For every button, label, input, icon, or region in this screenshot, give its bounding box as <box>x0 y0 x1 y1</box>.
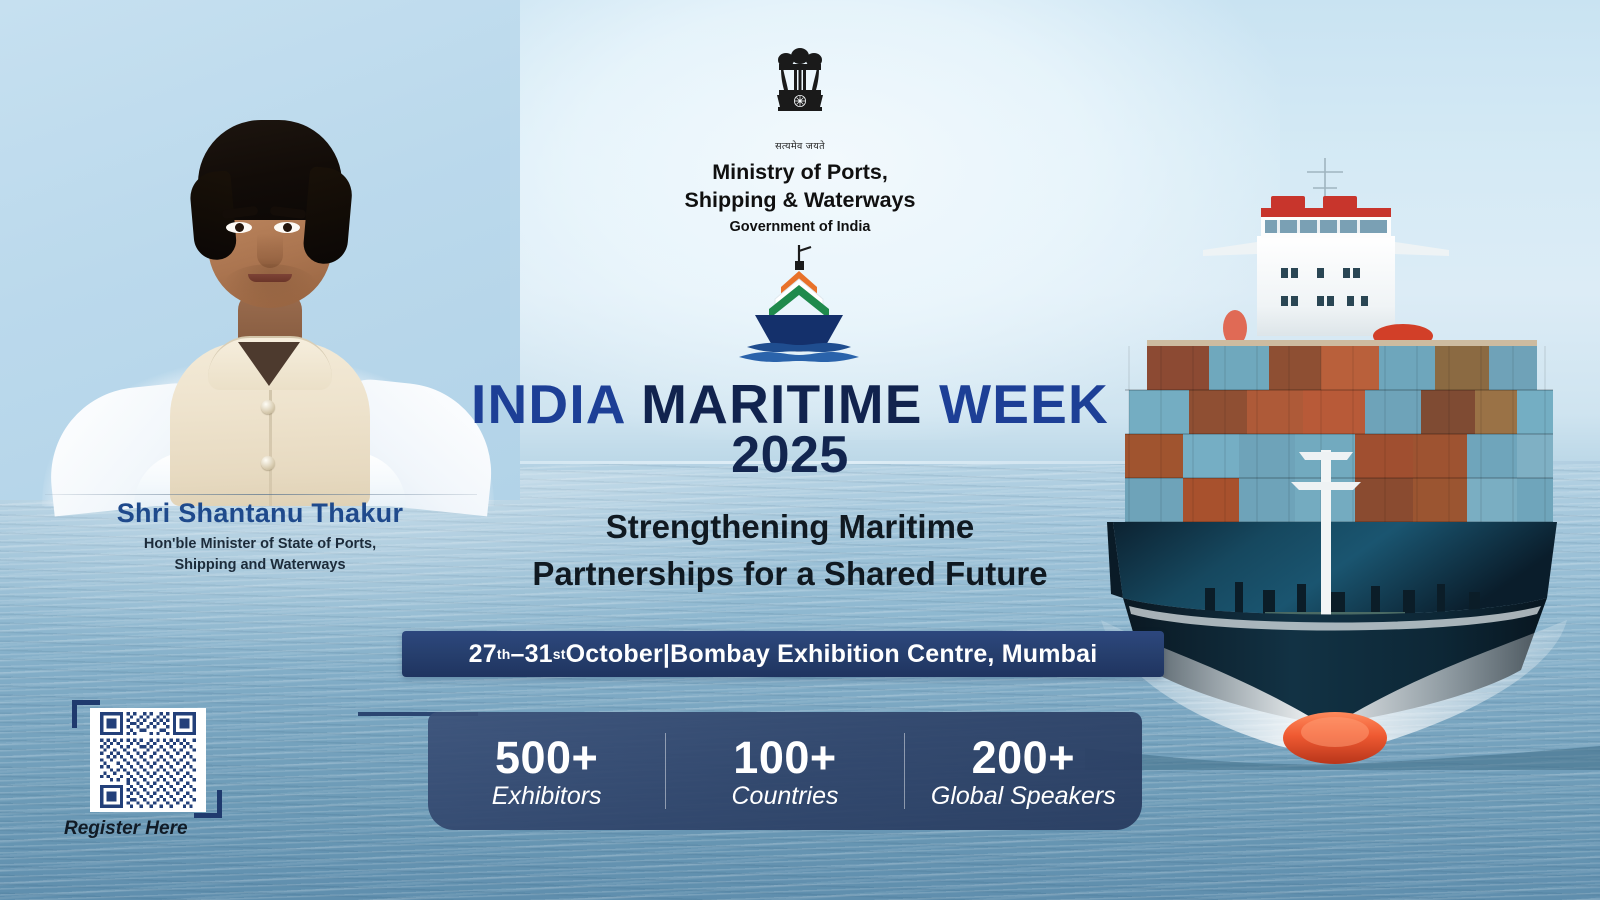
government-label: Government of India <box>645 219 955 235</box>
india-maritime-week-logo <box>729 243 869 365</box>
ashoka-lion-capital-emblem <box>767 42 833 138</box>
stat-number: 100+ <box>666 732 903 784</box>
promotional-banner: Shri Shantanu Thakur Hon'ble Minister of… <box>0 0 1600 900</box>
date-venue-bar: 27th – 31st October | Bombay Exhibition … <box>402 631 1164 677</box>
date-start-suffix: th <box>497 646 511 662</box>
date-end: 31 <box>525 640 553 669</box>
stat-label: Countries <box>666 782 903 811</box>
ministry-name: Ministry of Ports, Shipping & Waterways <box>645 159 955 215</box>
ministry-block: सत्यमेव जयते Ministry of Ports, Shipping… <box>645 42 955 235</box>
event-year: 2025 <box>360 425 1220 485</box>
stat-label: Exhibitors <box>428 782 665 811</box>
eye-left <box>226 222 252 233</box>
eye-right <box>274 222 300 233</box>
date-dash: – <box>510 640 524 669</box>
date-end-suffix: st <box>553 646 566 662</box>
national-motto: सत्यमेव जयते <box>645 139 955 152</box>
qr-code-block[interactable] <box>72 700 222 818</box>
hair <box>198 120 342 220</box>
stats-panel: 500+ Exhibitors 100+ Countries 200+ Glob… <box>428 712 1142 830</box>
stat-item: 200+ Global Speakers <box>905 732 1142 811</box>
tagline-line1: Strengthening Maritime <box>360 504 1220 551</box>
name-divider <box>45 494 477 495</box>
chin-shadow <box>222 264 318 310</box>
ministry-name-line2: Shipping & Waterways <box>645 187 955 215</box>
tagline-line2: Partnerships for a Shared Future <box>360 551 1220 598</box>
ministry-name-line1: Ministry of Ports, <box>645 159 955 187</box>
register-here-label: Register Here <box>0 818 300 840</box>
date-venue-separator: | <box>663 640 670 669</box>
stat-item: 500+ Exhibitors <box>428 732 665 811</box>
stat-number: 200+ <box>905 732 1142 784</box>
jacket-button-top <box>261 400 275 414</box>
jacket-button-bottom <box>261 456 275 470</box>
event-month: October <box>566 640 663 669</box>
event-tagline: Strengthening Maritime Partnerships for … <box>360 504 1220 598</box>
stat-label: Global Speakers <box>905 782 1142 811</box>
event-venue: Bombay Exhibition Centre, Mumbai <box>670 640 1097 669</box>
stat-number: 500+ <box>428 732 665 784</box>
stat-item: 100+ Countries <box>666 732 903 811</box>
nose <box>257 234 283 268</box>
date-start: 27 <box>469 640 497 669</box>
mouth <box>248 274 292 282</box>
qr-code[interactable] <box>90 708 206 812</box>
